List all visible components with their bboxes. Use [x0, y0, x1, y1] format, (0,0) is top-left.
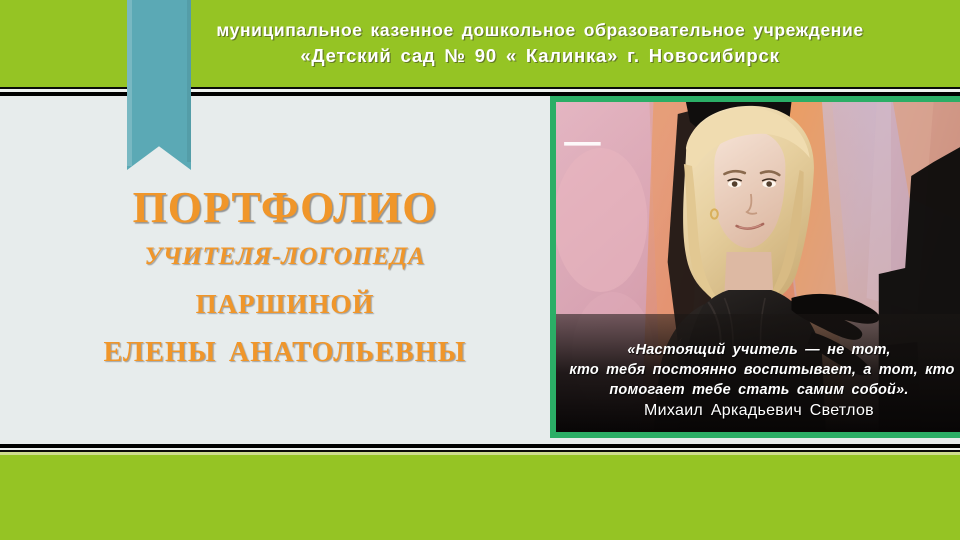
title-role: УЧИТЕЛЯ-ЛОГОПЕДА — [40, 234, 530, 280]
title-surname: ПАРШИНОЙ — [40, 280, 530, 328]
quote-line-1: «Настоящий учитель — не тот, — [556, 340, 960, 360]
institution-line-1: муниципальное казенное дошкольное образо… — [190, 18, 890, 43]
title-given-name: ЕЛЕНЫ АНАТОЛЬЕВНЫ — [40, 328, 530, 378]
rule-bottom-pale — [0, 452, 960, 455]
banner-ribbon — [127, 0, 191, 170]
page-title: ПОРТФОЛИО УЧИТЕЛЯ-ЛОГОПЕДА ПАРШИНОЙ ЕЛЕН… — [40, 182, 530, 378]
title-portfolio: ПОРТФОЛИО — [40, 182, 530, 234]
quote-line-3: помогает тебе стать самим собой». — [556, 380, 960, 400]
presentation-slide: муниципальное казенное дошкольное образо… — [0, 0, 960, 540]
quote-author: Михаил Аркадьевич Светлов — [556, 400, 960, 422]
institution-line-2: «Детский сад № 90 « Калинка» г. Новосиби… — [190, 43, 890, 68]
quote-overlay: «Настоящий учитель — не тот, кто тебя по… — [556, 340, 960, 422]
institution-header: муниципальное казенное дошкольное образо… — [190, 18, 890, 68]
quote-line-2: кто тебя постоянно воспитывает, а тот, к… — [562, 360, 960, 380]
ribbon-body — [127, 0, 191, 170]
ribbon-highlight — [127, 0, 132, 166]
